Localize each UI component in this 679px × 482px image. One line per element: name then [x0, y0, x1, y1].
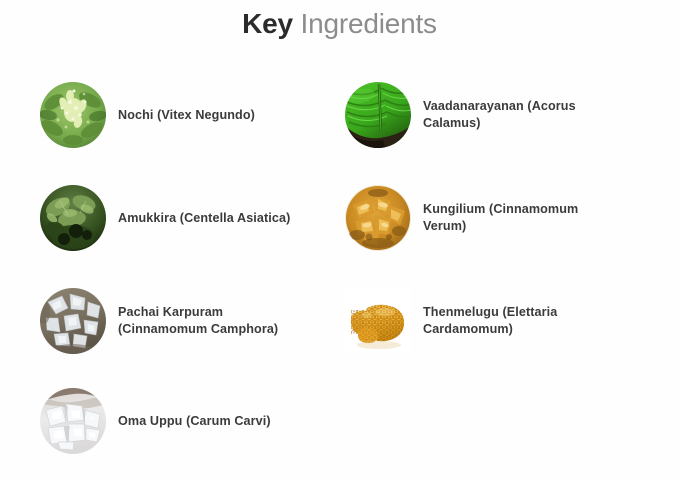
ingredient-item-amukkira: Amukkira (Centella Asiatica)	[40, 185, 290, 251]
kungilium-resin-icon	[345, 185, 411, 251]
ingredient-label-amukkira: Amukkira (Centella Asiatica)	[118, 210, 290, 227]
amukkira-leaf-icon	[40, 185, 106, 251]
ingredient-item-kungilium: Kungilium (Cinnamomum Verum)	[345, 185, 578, 251]
nochi-leaf-icon	[40, 82, 106, 148]
page-title-rest: Ingredients	[293, 8, 437, 39]
vaadanarayanan-fern-icon	[345, 82, 411, 148]
ingredient-label-kungilium: Kungilium (Cinnamomum Verum)	[423, 201, 578, 235]
ingredients-grid: Nochi (Vitex Negundo)	[0, 72, 679, 472]
page-title: Key Ingredients	[0, 8, 679, 40]
ingredient-label-pachai-karpuram: Pachai Karpuram (Cinnamomum Camphora)	[118, 304, 278, 338]
oma-uppu-crystal-icon	[40, 388, 106, 454]
ingredient-label-nochi: Nochi (Vitex Negundo)	[118, 107, 255, 124]
key-ingredients-panel: Key Ingredients	[0, 0, 679, 482]
pachai-karpuram-crystal-icon	[40, 288, 106, 354]
ingredient-label-oma-uppu: Oma Uppu (Carum Carvi)	[118, 413, 271, 430]
ingredient-item-nochi: Nochi (Vitex Negundo)	[40, 82, 255, 148]
thenmelugu-honeycomb-icon	[345, 288, 411, 354]
ingredient-item-thenmelugu: Thenmelugu (Elettaria Cardamomum)	[345, 288, 557, 354]
ingredient-item-pachai-karpuram: Pachai Karpuram (Cinnamomum Camphora)	[40, 288, 278, 354]
ingredient-item-vaadanarayanan: Vaadanarayanan (Acorus Calamus)	[345, 82, 576, 148]
ingredient-label-vaadanarayanan: Vaadanarayanan (Acorus Calamus)	[423, 98, 576, 132]
ingredient-item-oma-uppu: Oma Uppu (Carum Carvi)	[40, 388, 271, 454]
ingredient-label-thenmelugu: Thenmelugu (Elettaria Cardamomum)	[423, 304, 557, 338]
page-title-emphasis: Key	[242, 8, 293, 39]
